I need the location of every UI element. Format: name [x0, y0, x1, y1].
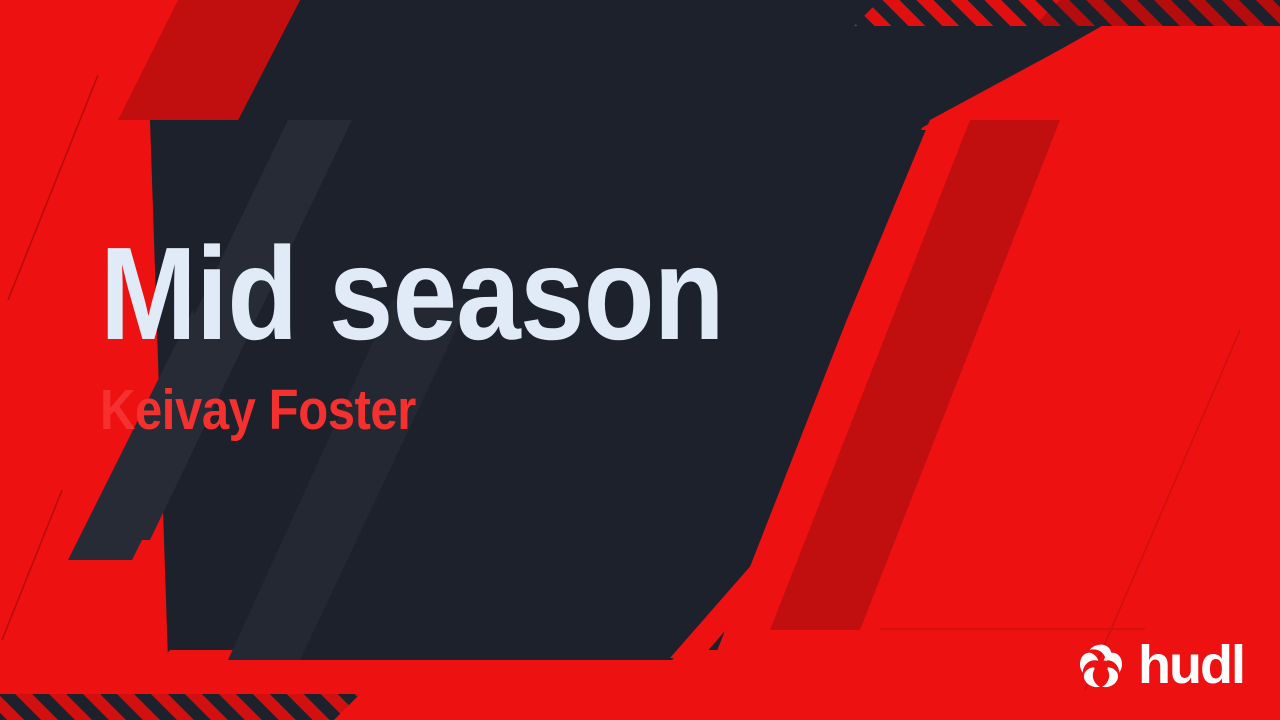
top-left-dark-red-band [116, 0, 300, 122]
top-right-hatch-band [854, 0, 1280, 26]
left-hairline [8, 75, 98, 300]
bottom-left-red [0, 668, 260, 720]
right-field-navy-step [800, 95, 918, 200]
hudl-wordmark: hudl [1138, 638, 1244, 692]
page-title: Mid season [100, 228, 724, 360]
title-text-group: Mid season Keivay Foster [100, 228, 809, 439]
red-slash-accent [672, 560, 786, 660]
hudl-logo: hudl [1075, 640, 1244, 694]
dark-red-slash [770, 120, 1060, 630]
left-hairline-2 [2, 490, 62, 640]
bottom-red-band [0, 660, 780, 720]
hudl-triskelion-icon [1075, 641, 1127, 693]
top-left-dark-red-band-2 [118, 0, 300, 120]
right-field-navy-notch [796, 70, 930, 170]
right-red-field-top [930, 0, 1280, 170]
athlete-name: Keivay Foster [100, 382, 710, 439]
red-slash-accent-2 [670, 562, 782, 658]
bottom-red-band-2 [110, 650, 800, 720]
left-red-field-notch [0, 700, 1280, 720]
top-left-navy-step [150, 0, 1280, 120]
bottom-left-hatch-band [0, 694, 360, 720]
title-card: Mid season Keivay Foster hudl [0, 0, 1280, 720]
right-red-field-upper-wedge [918, 0, 1280, 130]
